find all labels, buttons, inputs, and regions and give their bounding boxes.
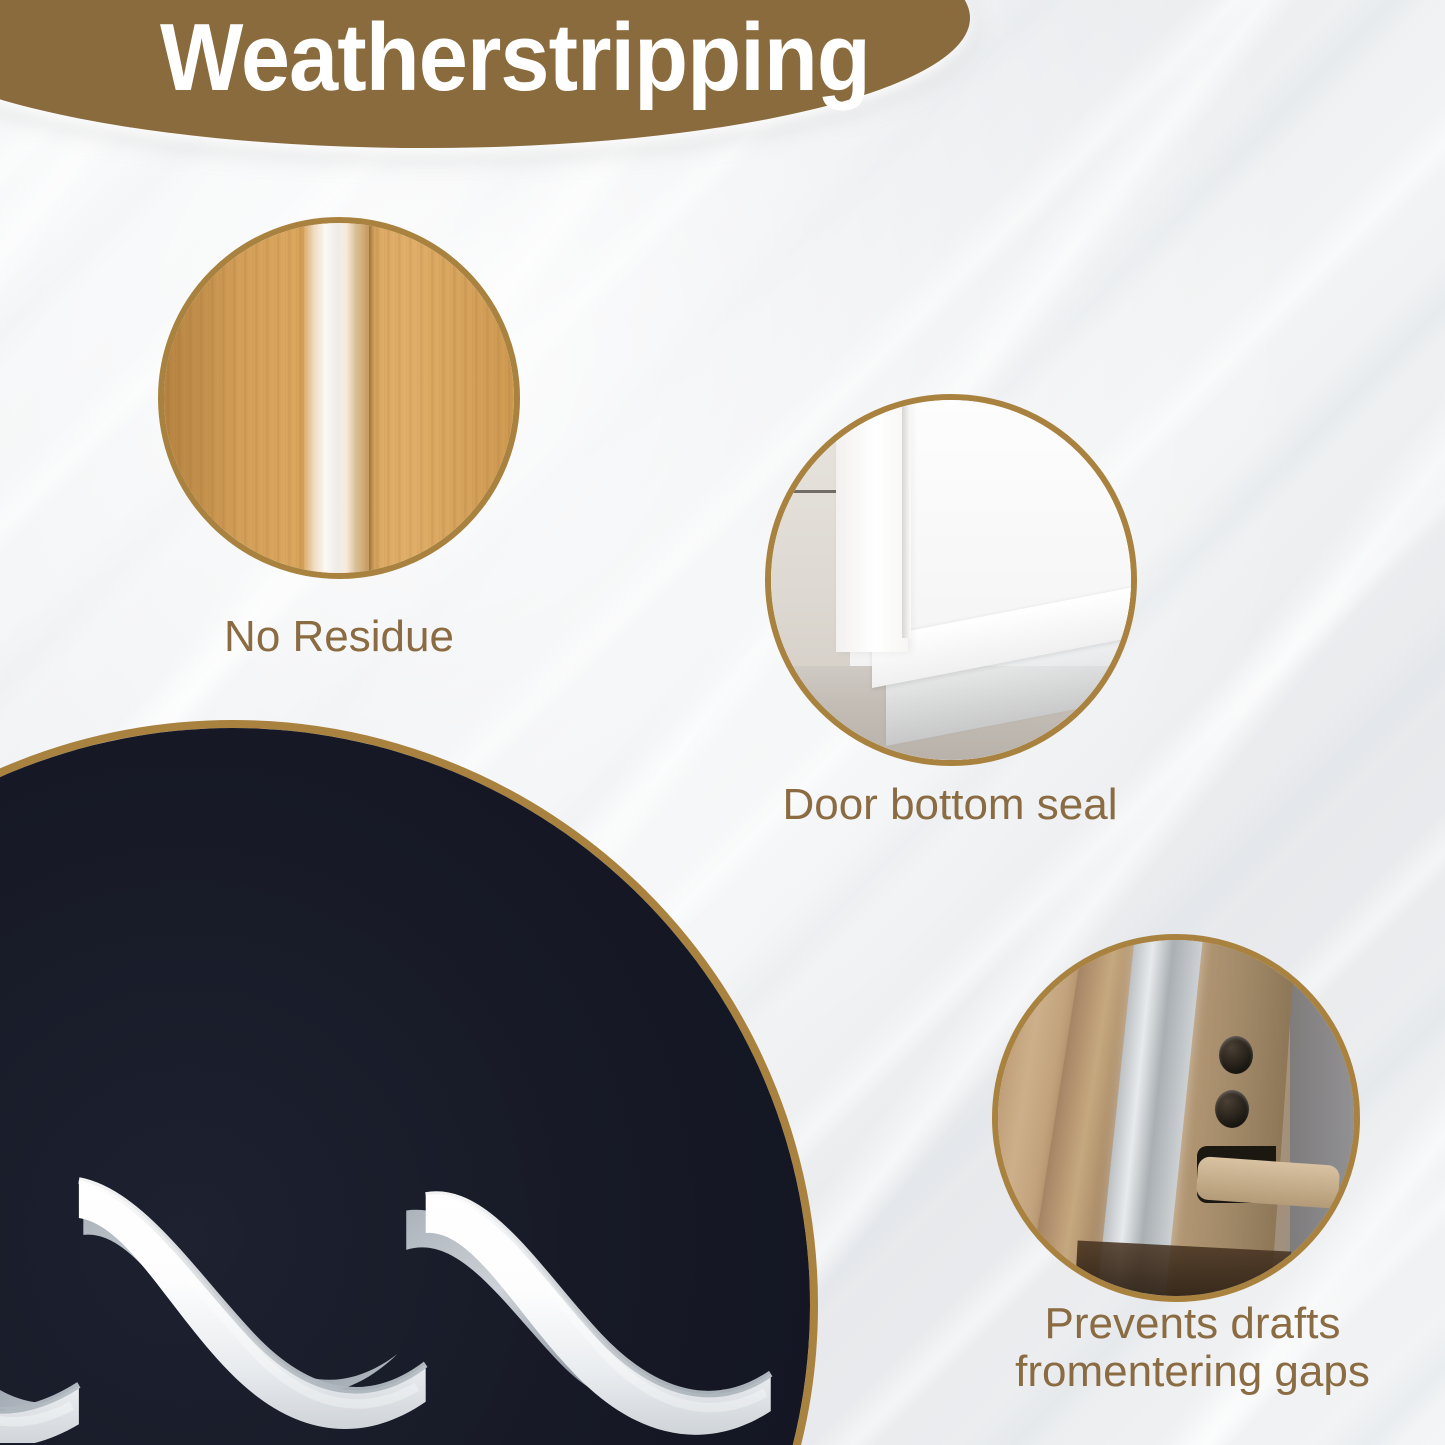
feature-caption-prevents-drafts: Prevents drafts fromentering gaps <box>940 1300 1445 1395</box>
screw-hole-icon <box>1215 1090 1249 1128</box>
frame-bottom-shadow <box>1075 1241 1291 1302</box>
product-feature-infographic: Weatherstripping No Residue Door bottom … <box>0 0 1445 1445</box>
feature-image-door-bottom-seal <box>765 394 1137 766</box>
screw-hole-icon <box>1219 1036 1253 1074</box>
tape-coil-svg <box>0 1143 787 1443</box>
caption-line-2: fromentering gaps <box>940 1348 1445 1396</box>
caption-line-1: Prevents drafts <box>940 1300 1445 1348</box>
white-door-panel <box>836 394 908 652</box>
door-edge-line <box>902 394 910 638</box>
door-gap-shadow <box>1290 940 1360 1296</box>
feature-image-no-residue <box>158 217 520 579</box>
feature-image-product-tape <box>0 720 818 1445</box>
clear-weatherstrip-icon <box>304 217 371 579</box>
feature-image-prevents-drafts <box>992 934 1360 1302</box>
wood-shading <box>164 223 290 573</box>
feature-caption-no-residue: No Residue <box>158 614 520 661</box>
page-title: Weatherstripping <box>160 8 870 109</box>
tape-coil-icon <box>0 1143 787 1443</box>
strip-edge-line <box>369 217 374 579</box>
